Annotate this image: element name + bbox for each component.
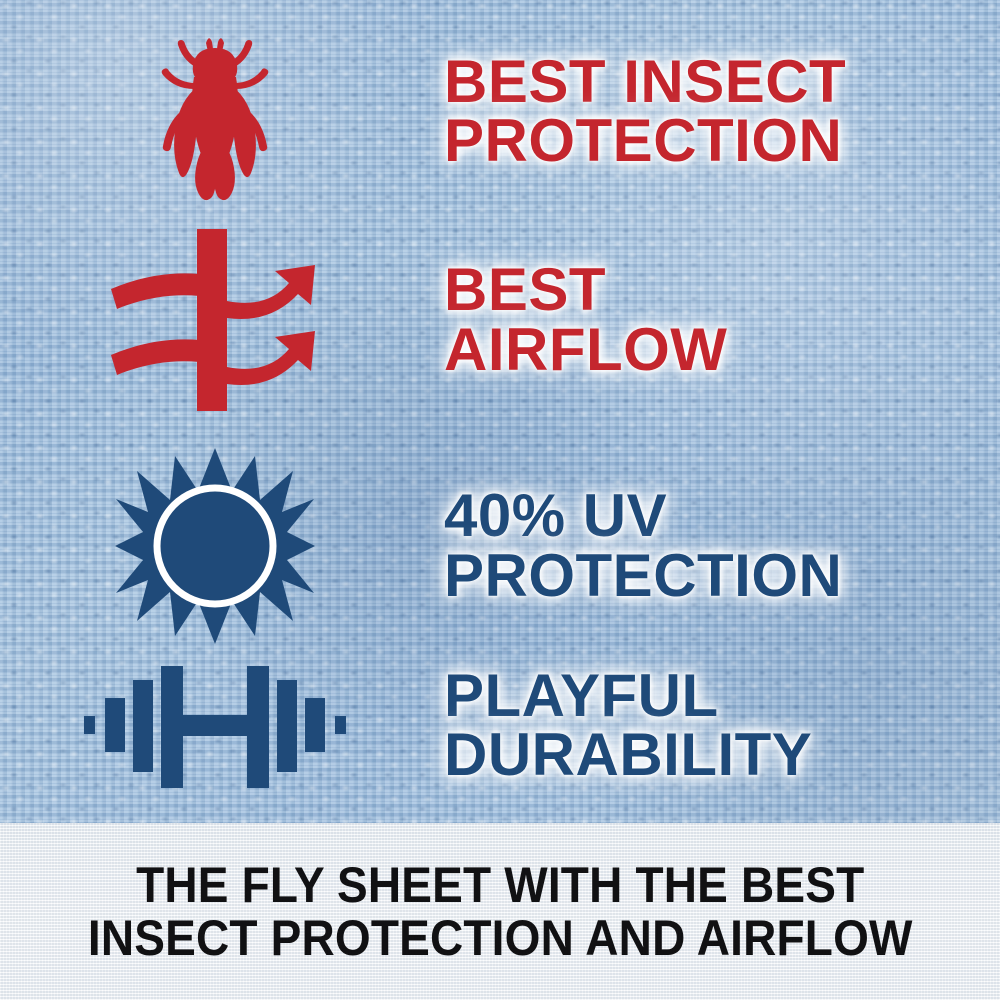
feature-row-durability: PLAYFUL DURABILITY (0, 650, 1000, 800)
sun-icon (112, 446, 318, 646)
feature-row-airflow: BEST AIRFLOW (0, 222, 1000, 417)
caption-band: THE FLY SHEET WITH THE BEST INSECT PROTE… (0, 823, 1000, 1000)
feature-icon-cell (0, 21, 430, 201)
infographic-canvas: BEST INSECT PROTECTION (0, 0, 1000, 1000)
feature-label-uv-protection: 40% UV PROTECTION (444, 486, 1000, 605)
feature-row-insect-protection: BEST INSECT PROTECTION (0, 16, 1000, 206)
feature-text-cell: PLAYFUL DURABILITY (430, 666, 1000, 785)
dumbbell-icon (84, 660, 346, 790)
caption-headline: THE FLY SHEET WITH THE BEST INSECT PROTE… (88, 859, 913, 965)
feature-text-cell: BEST INSECT PROTECTION (430, 52, 1000, 171)
feature-label-airflow: BEST AIRFLOW (444, 260, 1000, 379)
feature-text-cell: BEST AIRFLOW (430, 260, 1000, 379)
fly-icon (140, 21, 290, 201)
feature-icon-cell (0, 660, 430, 790)
feature-label-insect-protection: BEST INSECT PROTECTION (444, 52, 1000, 171)
airflow-through-barrier-icon (105, 225, 325, 415)
feature-icon-cell (0, 446, 430, 646)
feature-row-uv-protection: 40% UV PROTECTION (0, 438, 1000, 653)
feature-icon-cell (0, 225, 430, 415)
feature-text-cell: 40% UV PROTECTION (430, 486, 1000, 605)
feature-list: BEST INSECT PROTECTION (0, 0, 1000, 823)
feature-label-durability: PLAYFUL DURABILITY (444, 666, 1000, 785)
